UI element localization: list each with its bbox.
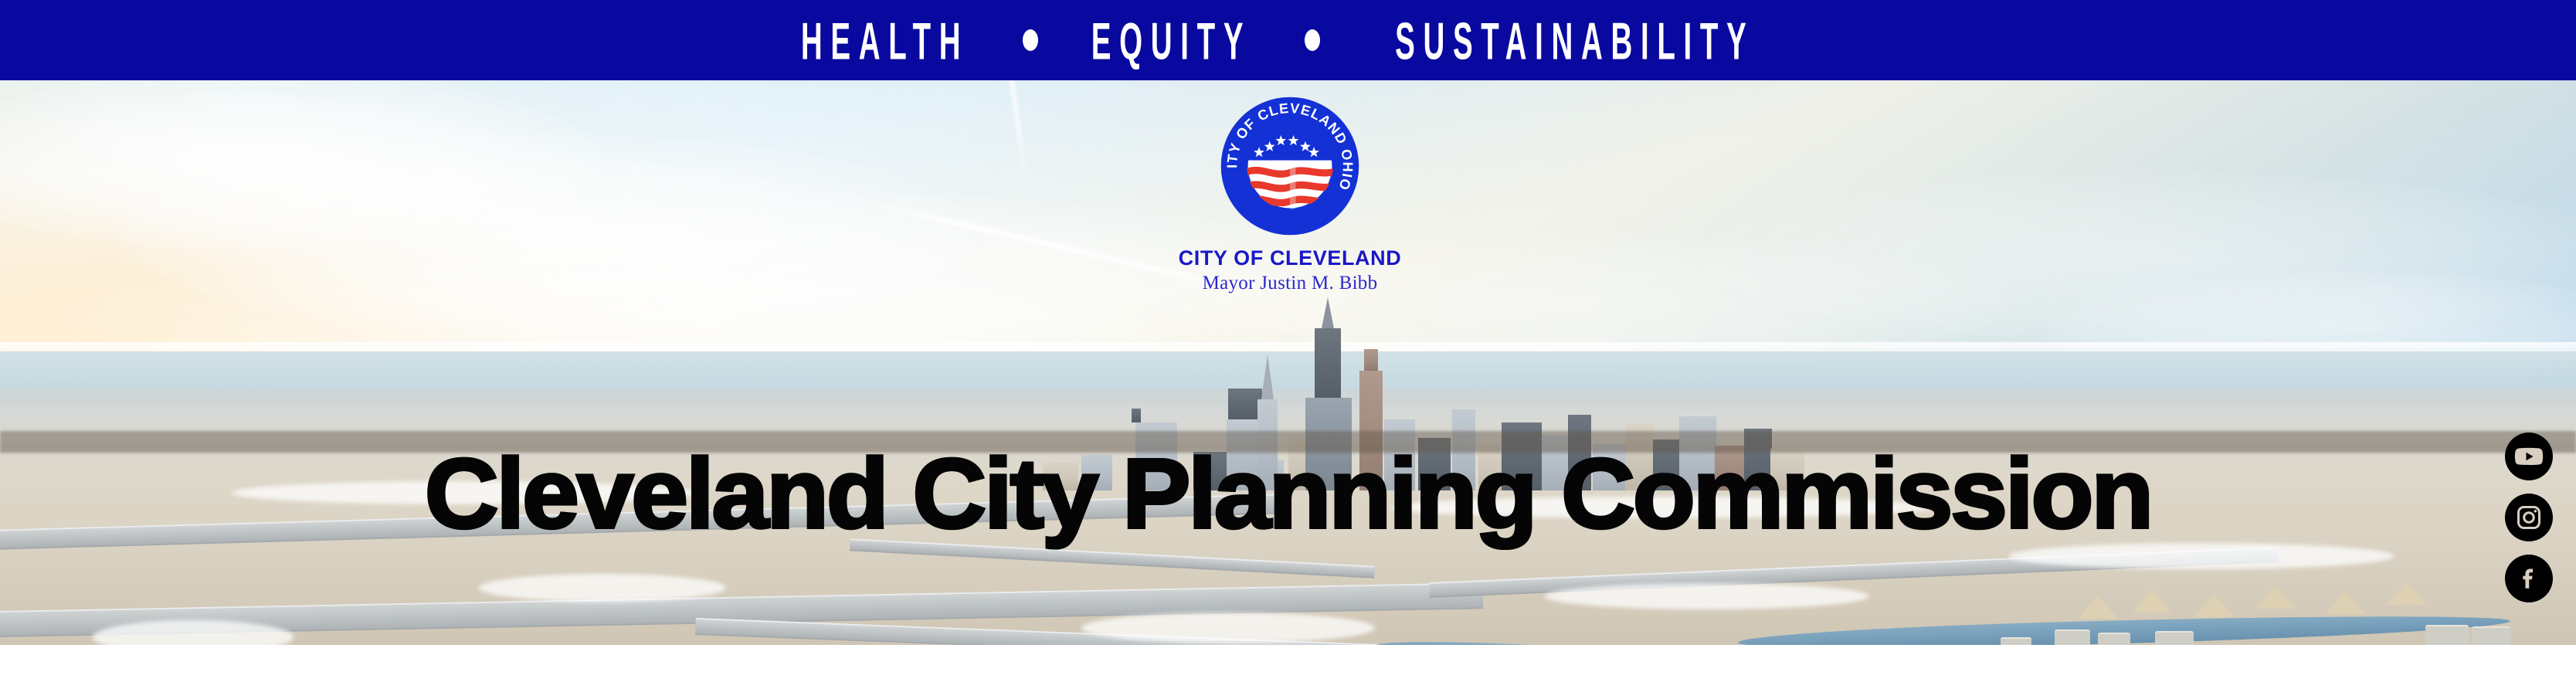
city-brand-lockup: CITY OF CLEVELAND OHIO CITY OF CLEVELAND… <box>1128 94 1452 294</box>
storage-tank <box>2001 637 2031 645</box>
tagline-word-health: HEALTH <box>801 14 969 66</box>
page-title: Cleveland City Planning Commission <box>0 445 2576 544</box>
city-of-cleveland-seal-icon: CITY OF CLEVELAND OHIO <box>1218 94 1362 238</box>
sand-pile <box>2325 591 2365 614</box>
tagline-separator-dot-1 <box>1023 29 1038 51</box>
sand-pile <box>2132 589 2172 612</box>
skyline-building <box>1132 409 1141 422</box>
sand-pile <box>2255 585 2296 609</box>
skyline-building <box>1364 349 1378 371</box>
snow-patch <box>479 574 726 602</box>
instagram-icon <box>2515 504 2543 531</box>
storage-tank <box>2155 631 2194 645</box>
tagline-bar: HEALTH EQUITY SUSTAINABILITY <box>0 0 2576 80</box>
snow-patch <box>1081 612 1375 643</box>
social-link-instagram[interactable] <box>2505 494 2553 541</box>
sand-pile <box>2078 595 2118 619</box>
sand-pile <box>2387 582 2427 605</box>
storage-tank <box>2472 626 2510 645</box>
skyline-building <box>1315 328 1341 398</box>
skyline-spire <box>1261 355 1274 399</box>
lockup-organization-name: CITY OF CLEVELAND <box>1128 247 1452 269</box>
storage-tank <box>2055 629 2090 645</box>
tagline-word-equity: EQUITY <box>1091 14 1251 66</box>
tagline-separator-dot-2 <box>1305 29 1320 51</box>
social-link-facebook[interactable] <box>2505 555 2553 602</box>
tagline-inner: HEALTH EQUITY SUSTAINABILITY <box>782 22 1794 59</box>
social-link-youtube[interactable] <box>2505 433 2553 480</box>
skyline-spire <box>1322 297 1334 328</box>
page-root: HEALTH EQUITY SUSTAINABILITY <box>0 0 2576 682</box>
sand-pile <box>2194 594 2234 617</box>
snow-patch <box>1545 583 1869 609</box>
storage-tank <box>2098 633 2130 645</box>
tagline-word-sustainability: SUSTAINABILITY <box>1395 14 1754 66</box>
lockup-mayor-name: Mayor Justin M. Bibb <box>1128 273 1452 294</box>
youtube-icon <box>2514 442 2544 471</box>
facebook-icon <box>2516 565 2542 592</box>
storage-tank <box>2425 625 2469 645</box>
bottom-white-strip <box>0 645 2576 682</box>
social-links <box>2505 433 2556 602</box>
